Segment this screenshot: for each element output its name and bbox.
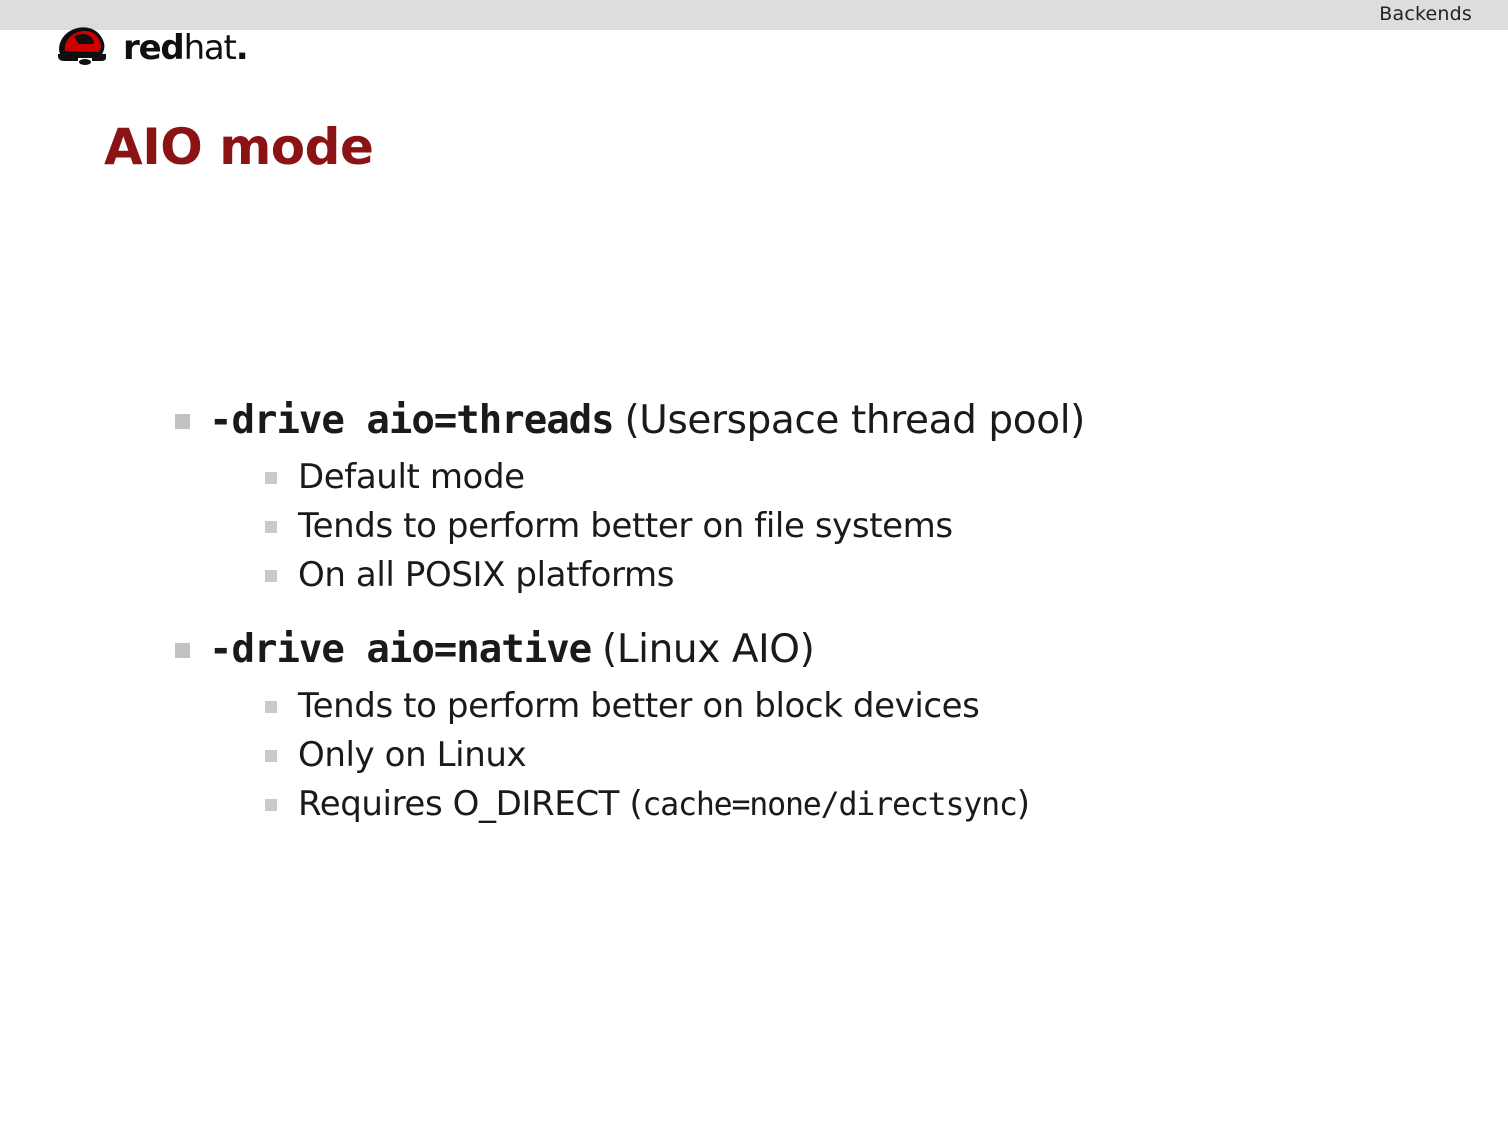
logo-word-dot: . [236,28,248,68]
bullet-level2-default-mode: Default mode [0,453,1508,502]
header-section-label: Backends [1379,3,1472,25]
bullet-level2-block-devices: Tends to perform better on block devices [0,682,1508,731]
prose-span-linux-aio: (Linux AIO) [602,627,814,672]
bullet-level2-text: On all POSIX platforms [298,555,674,595]
bullet-level2-text: Requires O_DIRECT (cache=none/directsync… [298,785,1030,823]
logo-word-hat: hat [184,28,236,68]
bullet-level2-file-systems: Tends to perform better on file systems [0,502,1508,551]
redhat-logo: redhat. [48,22,247,68]
code-span-drive-aio-native: -drive aio=native [209,627,591,672]
bullet-level2-posix-platforms: On all POSIX platforms [0,551,1508,600]
bullet-square-marker [265,521,277,533]
redhat-wordmark: redhat. [123,31,247,65]
bullet-level2-text: Only on Linux [298,735,526,775]
bullet-level2-text: Default mode [298,457,525,497]
bullet-group-native: -drive aio=native (Linux AIO) Tends to p… [0,622,1508,830]
spacer [614,399,625,442]
slide-title: AIO mode [104,118,373,176]
sublist-threads: Default mode Tends to perform better on … [0,453,1508,600]
logo-word-red: red [123,28,184,68]
bullet-level1-text: -drive aio=native (Linux AIO) [209,628,814,671]
bullet-square-marker [265,570,277,582]
redhat-shadowman-icon [48,24,120,66]
bullet-level2-text: Tends to perform better on block devices [298,686,980,726]
bullet-level1-text: -drive aio=threads (Userspace thread poo… [209,399,1085,442]
bullet-level2-only-linux: Only on Linux [0,731,1508,780]
bullet-level1-threads: -drive aio=threads (Userspace thread poo… [0,393,1508,449]
bullet-level2-requires-odirect: Requires O_DIRECT (cache=none/directsync… [0,780,1508,830]
bullet-square-marker [265,750,277,762]
bullet-group-threads: -drive aio=threads (Userspace thread poo… [0,393,1508,600]
prose-span-close-paren: ) [1017,784,1030,824]
bullet-square-marker [175,414,190,429]
bullet-level2-text: Tends to perform better on file systems [298,506,953,546]
bullet-square-marker [265,799,277,811]
bullet-square-marker [175,643,190,658]
prose-span-requires-odirect: Requires O_DIRECT ( [298,784,642,824]
slide-content: -drive aio=threads (Userspace thread poo… [0,393,1508,830]
bullet-square-marker [265,472,277,484]
spacer [591,628,602,671]
bullet-square-marker [265,701,277,713]
bullet-level1-native: -drive aio=native (Linux AIO) [0,622,1508,678]
prose-span-userspace-thread-pool: (Userspace thread pool) [624,398,1084,443]
code-span-cache-none-directsync: cache=none/directsync [642,787,1016,823]
sublist-native: Tends to perform better on block devices… [0,682,1508,830]
code-span-drive-aio-threads: -drive aio=threads [209,398,614,443]
